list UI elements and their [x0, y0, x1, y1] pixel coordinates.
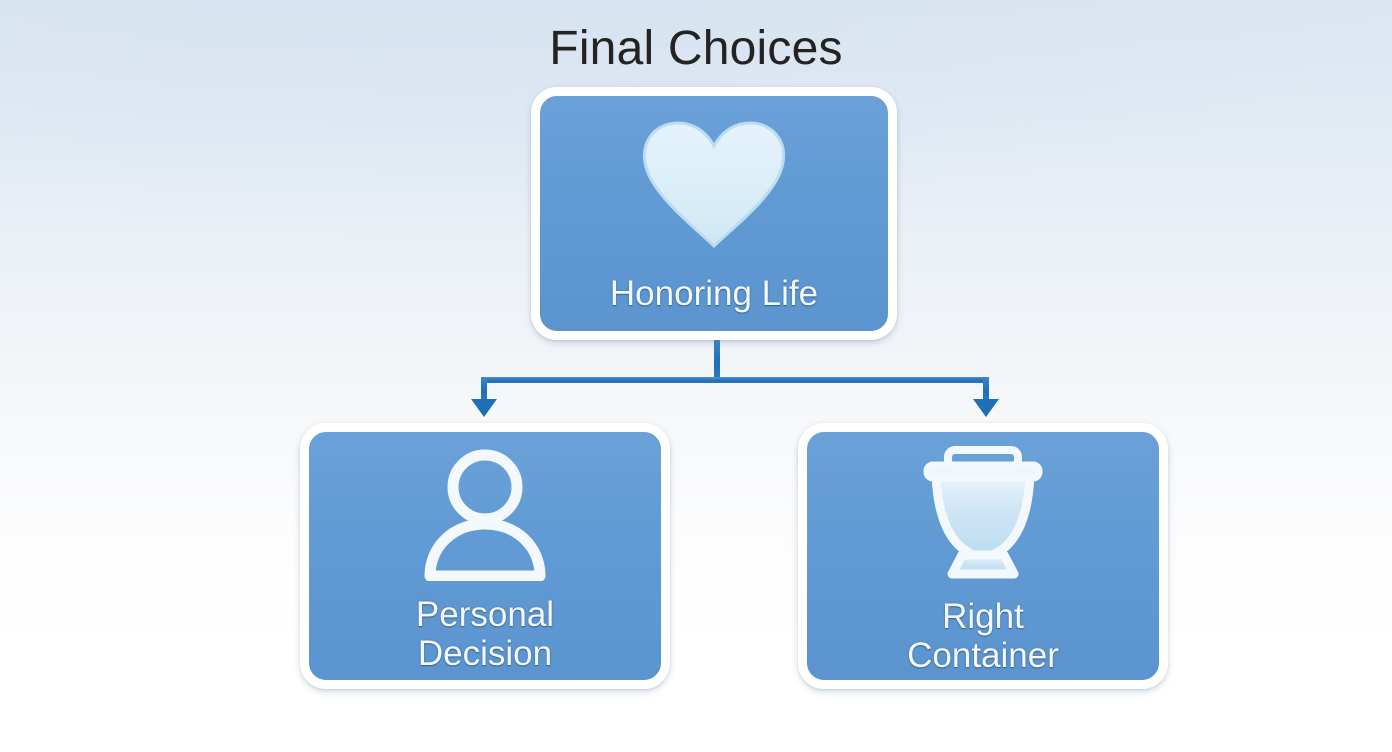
- node-honoring-life-label: Honoring Life: [610, 273, 818, 314]
- node-right-container-body: Right Container: [807, 432, 1159, 680]
- diagram-canvas: Final Choices Honor: [0, 0, 1392, 752]
- node-right-container-label: Right Container: [907, 597, 1059, 675]
- node-right-container[interactable]: Right Container: [798, 423, 1168, 689]
- arrowhead-left: [471, 399, 497, 417]
- node-personal-decision[interactable]: Personal Decision: [300, 423, 670, 689]
- node-honoring-life[interactable]: Honoring Life: [531, 87, 897, 340]
- person-icon: [419, 445, 551, 581]
- node-honoring-life-body: Honoring Life: [540, 96, 888, 331]
- node-personal-decision-label: Personal Decision: [416, 595, 554, 673]
- arrowhead-right: [973, 399, 999, 417]
- urn-icon: [918, 443, 1048, 583]
- connector-root-stem: [714, 340, 720, 380]
- connector-horizontal-bus: [481, 377, 989, 383]
- page-title: Final Choices: [0, 16, 1392, 82]
- heart-icon: [638, 117, 790, 253]
- node-personal-decision-body: Personal Decision: [309, 432, 661, 680]
